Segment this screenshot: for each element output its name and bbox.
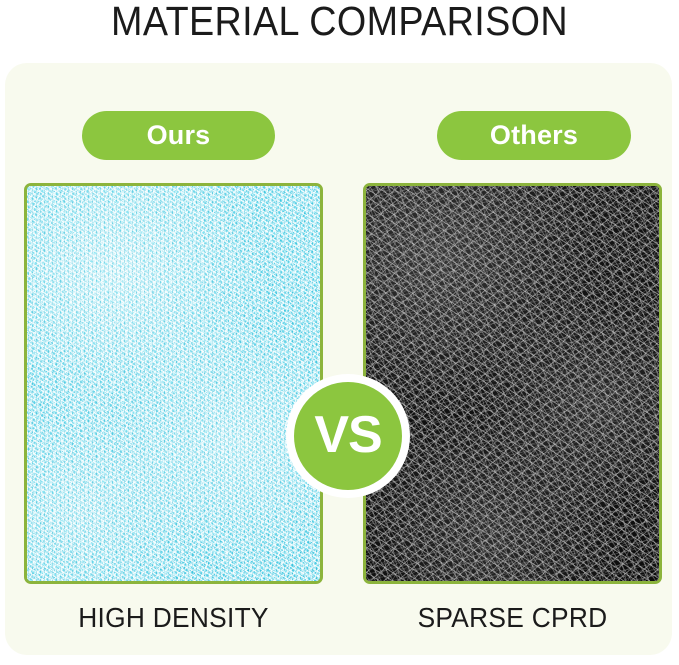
caption-others: SPARSE CPRD [372,598,653,638]
badge-ours: Ours [82,111,275,160]
material-comparison-graphic: MATERIAL COMPARISON Ours Others VS HIGH … [0,0,679,665]
vs-label: VS [294,382,402,490]
sparse-dark-fiber-sample [366,186,659,581]
comparison-card: Ours Others VS HIGH DENSITY SPARSE CPRD [5,63,672,655]
vs-badge: VS [286,374,410,498]
dense-cyan-fiber-sample [27,186,320,581]
page-title: MATERIAL COMPARISON [27,0,652,44]
sample-panel-others [363,183,662,584]
caption-ours: HIGH DENSITY [33,598,314,638]
sample-panel-ours [24,183,323,584]
badge-others: Others [437,111,631,160]
